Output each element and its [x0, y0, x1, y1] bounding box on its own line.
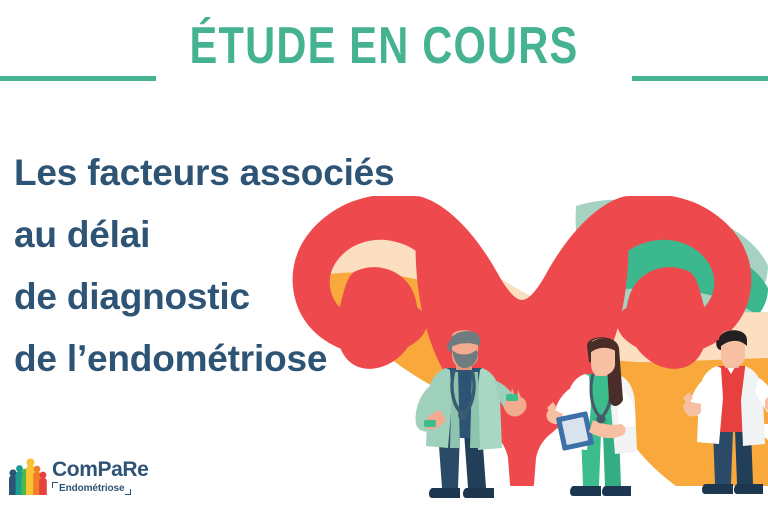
compare-logo[interactable]: ComPaRe Endométriose — [8, 455, 178, 505]
person-female-doctor-clipboard — [545, 336, 653, 504]
kicker-label: ÉTUDE EN COURS — [77, 18, 691, 74]
poster-canvas: ÉTUDE EN COURS Les facteurs associés au … — [0, 0, 768, 512]
header-rule-right — [632, 76, 768, 81]
header-band: ÉTUDE EN COURS — [0, 0, 768, 95]
headline-line-1: Les facteurs associés — [14, 142, 454, 204]
bracket-top-left-icon — [52, 482, 58, 488]
headline-line-2: au délai — [14, 204, 454, 266]
headline-line-3: de diagnostic — [14, 266, 454, 328]
person-male-doctor-red-shirt — [683, 330, 768, 502]
compare-logo-text: ComPaRe Endométriose — [52, 455, 148, 494]
compare-logo-subtitle: Endométriose — [59, 483, 124, 494]
compare-logo-name: ComPaRe — [52, 459, 148, 480]
compare-logo-subtitle-wrap: Endométriose — [52, 483, 131, 494]
bracket-bottom-right-icon — [125, 489, 131, 495]
compare-logo-figures-icon — [8, 455, 48, 499]
header-rule-left — [0, 76, 156, 81]
headline-block: Les facteurs associés au délai de diagno… — [14, 142, 454, 390]
headline-line-4: de l’endométriose — [14, 328, 454, 390]
